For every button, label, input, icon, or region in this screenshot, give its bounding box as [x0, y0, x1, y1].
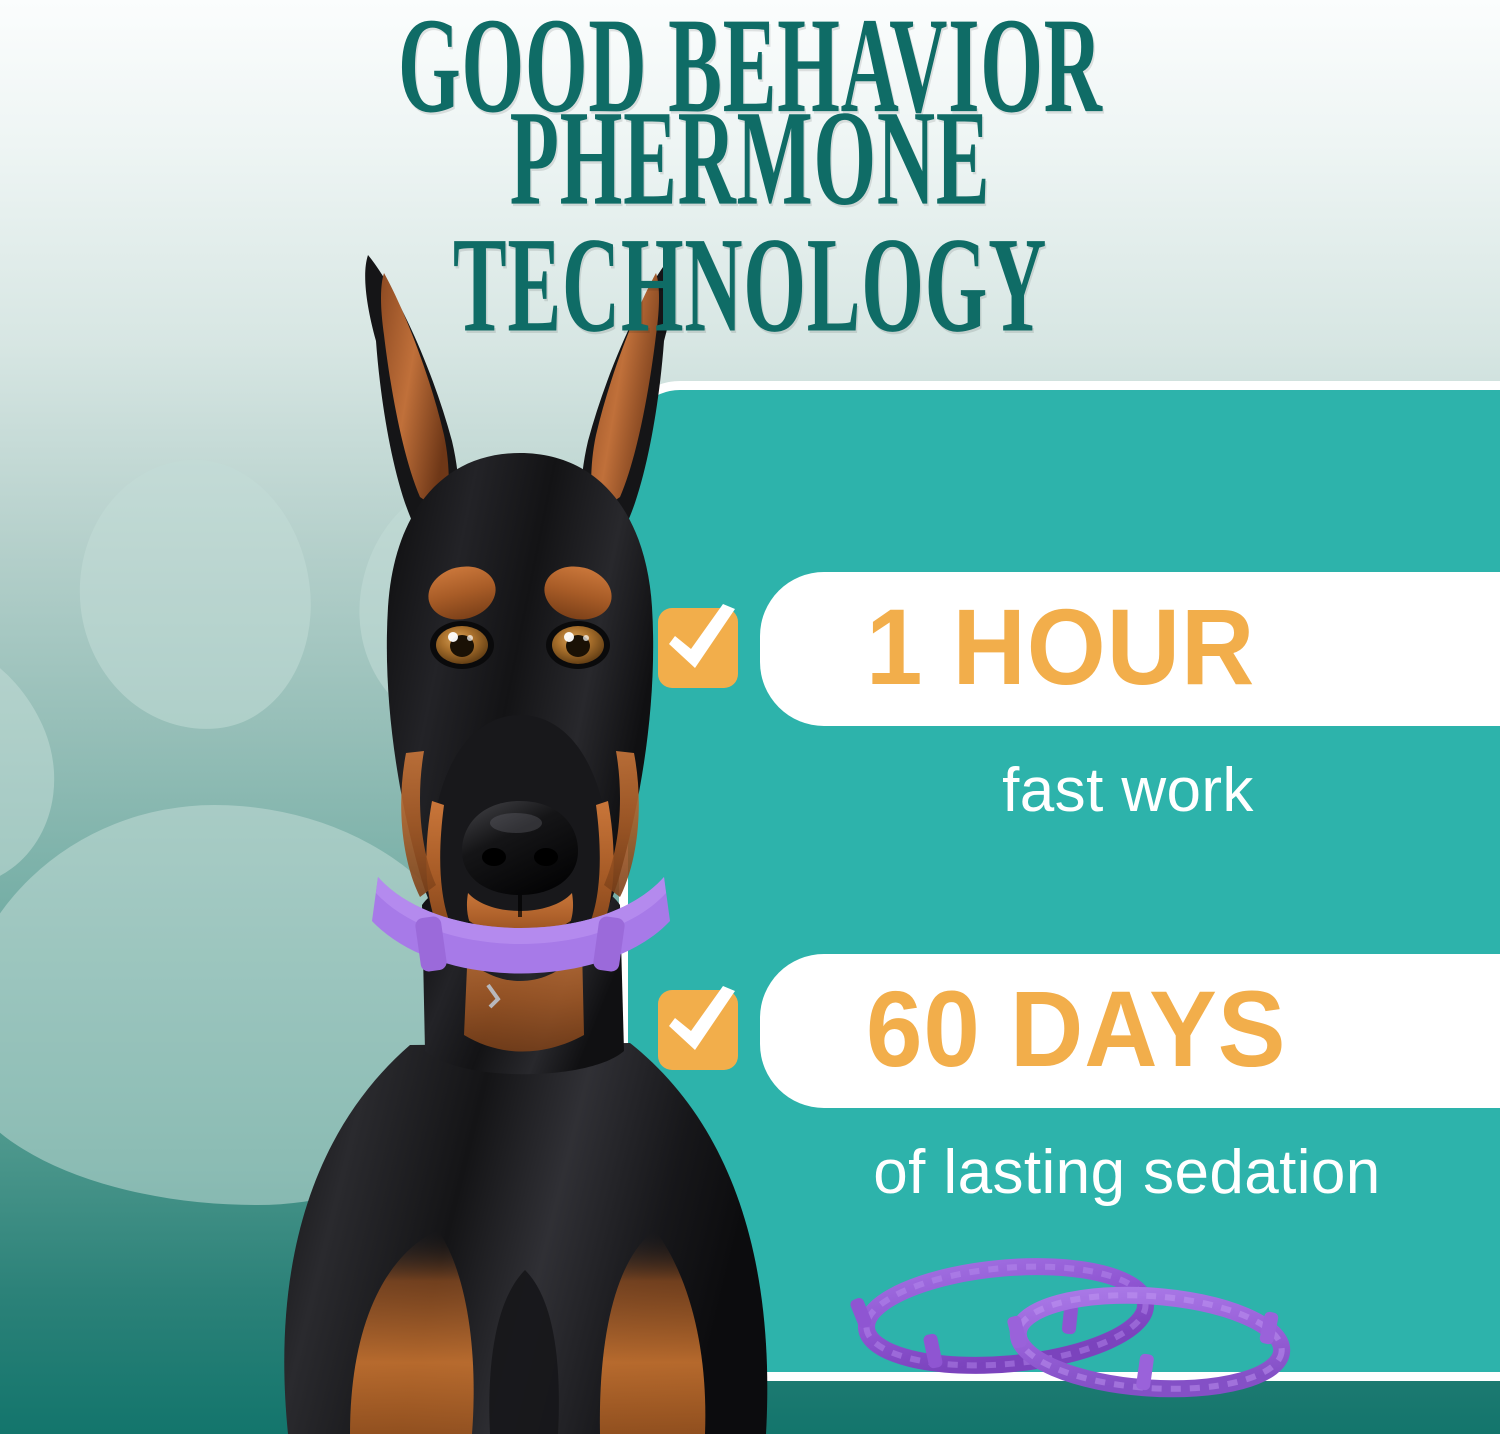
page-title: GOOD BEHAVIOR PHERMONE TECHNOLOGY	[0, 14, 1500, 326]
feature-subtext: of lasting sedation	[628, 1142, 1500, 1204]
checkbox-checked-icon	[658, 608, 738, 688]
collar-back	[849, 1256, 1150, 1376]
paw-toe-pad	[0, 607, 92, 923]
feature-subtext: fast work	[628, 760, 1500, 822]
feature-headline: 60 DAYS	[866, 975, 1313, 1083]
feature-row: 1 HOUR fast work	[628, 572, 1500, 726]
product-infographic: 1 HOUR fast work 60 DAYS of lasting seda…	[0, 0, 1500, 1434]
checkbox-checked-icon	[658, 990, 738, 1070]
headline-line-2: PHERMONE TECHNOLOGY	[210, 95, 1290, 349]
collar-front	[1006, 1287, 1285, 1397]
product-collars-image	[838, 1250, 1308, 1420]
feature-row: 60 DAYS of lasting sedation	[628, 954, 1500, 1108]
feature-panel-content: 1 HOUR fast work 60 DAYS of lasting seda…	[628, 382, 1500, 1380]
feature-headline: 1 HOUR	[866, 593, 1280, 701]
